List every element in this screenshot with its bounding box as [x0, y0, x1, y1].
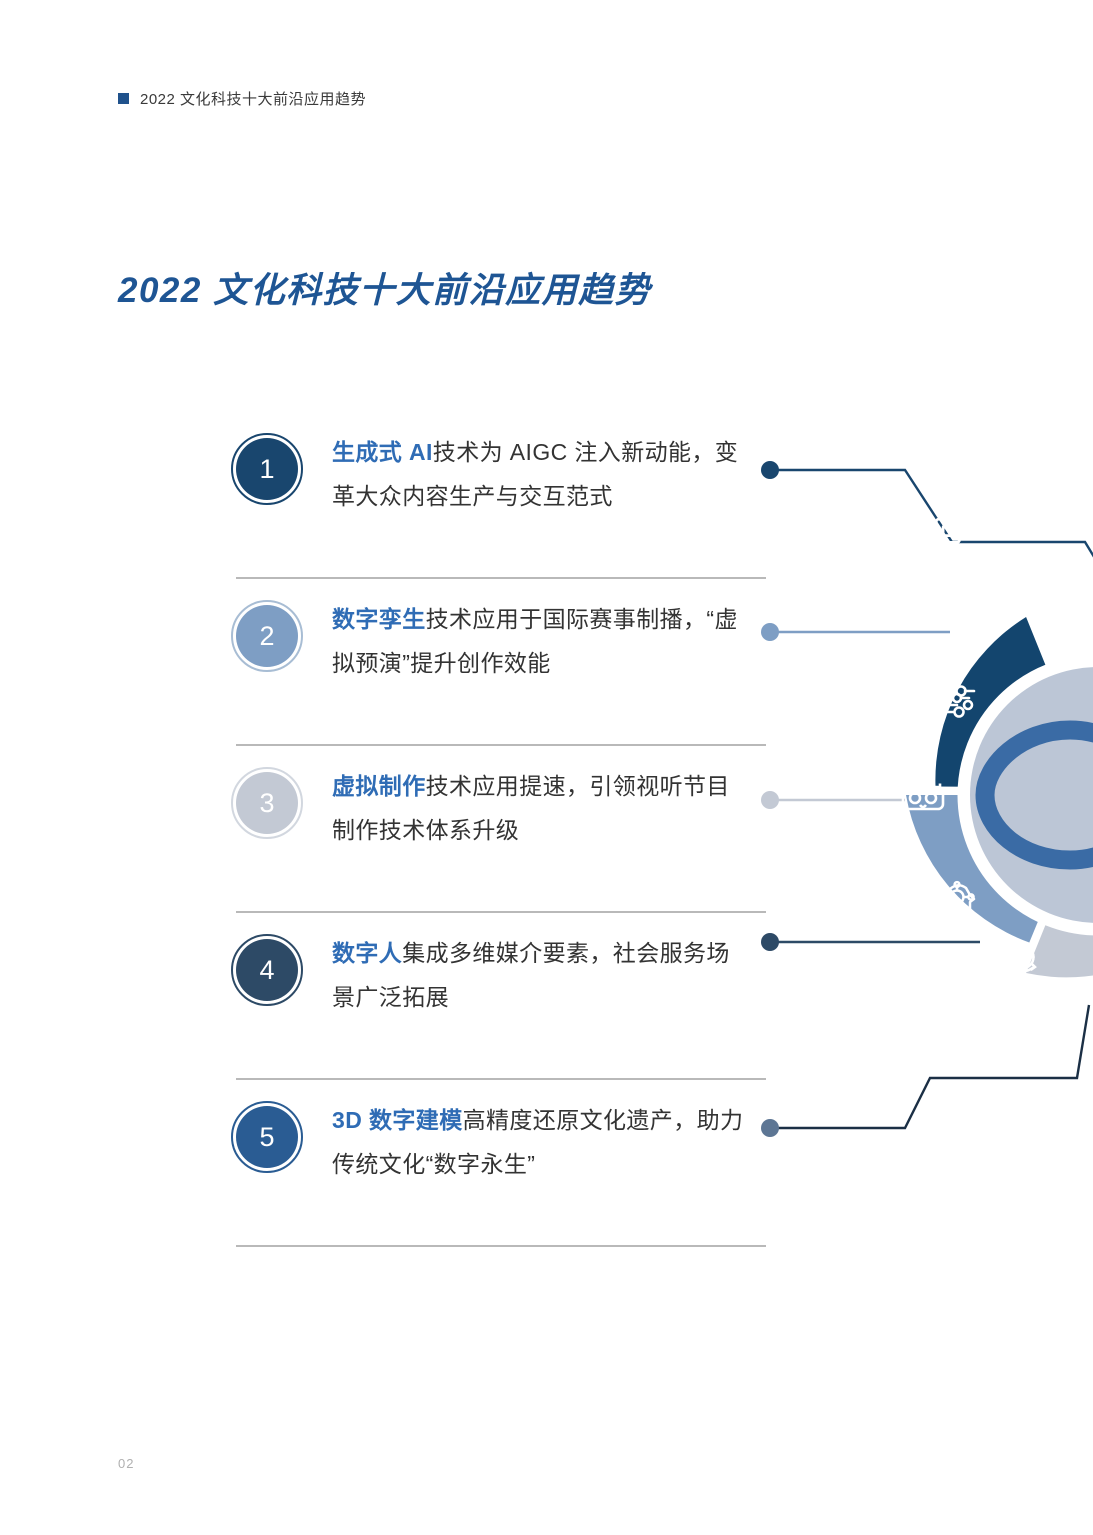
connector-line-1	[761, 461, 1093, 580]
trend-keyword-3: 虚拟制作	[332, 773, 426, 799]
trend-item-2: 2 数字孪生技术应用于国际赛事制播，“虚拟预演”提升创作效能	[236, 597, 766, 764]
trend-text-3: 虚拟制作技术应用提速，引领视听节目制作技术体系升级	[332, 764, 752, 852]
trend-item-5: 5 3D 数字建模高精度还原文化遗产，助力传统文化“数字永生”	[236, 1098, 766, 1265]
connector-dot-1	[761, 461, 779, 479]
trend-badge-4: 4	[236, 939, 298, 1001]
connector-dot-5	[761, 1119, 779, 1137]
page-number: 02	[118, 1456, 134, 1471]
connector-line-3	[761, 791, 905, 809]
running-header-text: 2022 文化科技十大前沿应用趋势	[140, 88, 366, 109]
connector-line-5	[761, 1005, 1089, 1137]
trend-divider-2	[236, 744, 766, 746]
trend-badge-5: 5	[236, 1106, 298, 1168]
connector-line-2	[761, 623, 950, 641]
trend-item-4: 4 数字人集成多维媒介要素，社会服务场景广泛拓展	[236, 931, 766, 1098]
connector-path-5	[770, 1005, 1089, 1128]
3d-globe-model-icon	[1011, 946, 1036, 972]
trend-text-5: 3D 数字建模高精度还原文化遗产，助力传统文化“数字永生”	[332, 1098, 752, 1186]
connector-dot-3	[761, 791, 779, 809]
trend-donut-diagram	[740, 420, 1093, 1200]
trend-text-4: 数字人集成多维媒介要素，社会服务场景广泛拓展	[332, 931, 752, 1019]
trend-text-2: 数字孪生技术应用于国际赛事制播，“虚拟预演”提升创作效能	[332, 597, 752, 685]
trend-badge-2: 2	[236, 605, 298, 667]
trend-divider-5	[236, 1245, 766, 1247]
trend-keyword-5: 3D 数字建模	[332, 1107, 463, 1133]
connector-line-4	[761, 933, 980, 951]
diagram-svg	[740, 420, 1093, 1200]
trend-badge-1: 1	[236, 438, 298, 500]
trend-keyword-1: 生成式 AI	[332, 439, 433, 465]
connector-dot-4	[761, 933, 779, 951]
trend-item-3: 3 虚拟制作技术应用提速，引领视听节目制作技术体系升级	[236, 764, 766, 931]
running-header: 2022 文化科技十大前沿应用趋势	[118, 88, 366, 109]
trend-divider-3	[236, 911, 766, 913]
trend-keyword-4: 数字人	[332, 940, 402, 966]
connector-dot-2	[761, 623, 779, 641]
document-page: 2022 文化科技十大前沿应用趋势 2022 文化科技十大前沿应用趋势 1 生成…	[0, 0, 1093, 1535]
trend-text-1: 生成式 AI技术为 AIGC 注入新动能，变革大众内容生产与交互范式	[332, 430, 752, 518]
trend-divider-1	[236, 577, 766, 579]
trend-item-1: 1 生成式 AI技术为 AIGC 注入新动能，变革大众内容生产与交互范式	[236, 430, 766, 597]
trend-list: 1 生成式 AI技术为 AIGC 注入新动能，变革大众内容生产与交互范式 2 数…	[236, 430, 766, 1265]
trend-badge-3: 3	[236, 772, 298, 834]
page-title: 2022 文化科技十大前沿应用趋势	[118, 262, 651, 313]
header-bullet-square-icon	[118, 93, 129, 104]
trend-divider-4	[236, 1078, 766, 1080]
trend-keyword-2: 数字孪生	[332, 606, 426, 632]
